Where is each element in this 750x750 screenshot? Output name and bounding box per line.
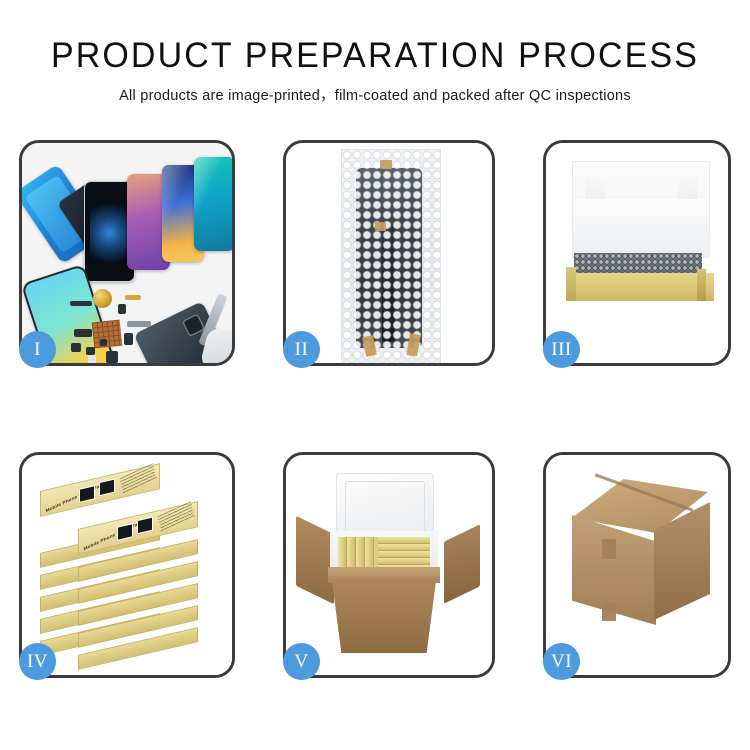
box-screen-thumb-1a <box>79 485 95 503</box>
process-steps-grid: I II <box>0 140 750 678</box>
part-small-2 <box>74 329 92 337</box>
part-small-5 <box>124 333 133 345</box>
box-label-text-2: Mobile Phone Spare Parts <box>83 519 144 551</box>
step-image-4: Mobile Phone Spare Parts Mobile Phone Sp… <box>22 455 232 675</box>
yellow-box-right-edge <box>697 269 706 301</box>
part-small-6 <box>106 351 118 363</box>
carton-tape-upper <box>602 539 616 559</box>
step-image-3 <box>546 143 728 363</box>
part-small-7 <box>100 339 107 346</box>
step-panel-1: I <box>19 140 235 366</box>
yellow-box-body <box>566 273 714 301</box>
process-row-bottom: Mobile Phone Spare Parts Mobile Phone Sp… <box>0 452 750 678</box>
part-small-1 <box>118 304 126 314</box>
chip-grid-component <box>92 320 123 349</box>
step-badge-3: III <box>543 331 580 368</box>
part-gold-flex <box>125 295 141 300</box>
carton-tape-lower <box>602 603 616 621</box>
foam-insert <box>574 199 706 257</box>
carton-flap-left <box>296 516 334 605</box>
inner-box-h2 <box>378 544 430 551</box>
bubble-texture <box>342 150 440 363</box>
step-panel-6: VI <box>543 452 731 678</box>
box-screen-thumb-2a <box>117 523 133 541</box>
step-panel-5: V <box>283 452 495 678</box>
box-top-front: Mobile Phone Spare Parts <box>40 463 160 517</box>
box-spec-lines-1 <box>120 463 157 493</box>
inner-box-h4 <box>378 558 430 565</box>
bubble-wrap-bag <box>341 149 441 363</box>
process-row-top: I II <box>0 140 750 366</box>
step-panel-4: Mobile Phone Spare Parts Mobile Phone Sp… <box>19 452 235 678</box>
part-small-4 <box>86 347 95 355</box>
box-screen-thumb-1b <box>99 479 115 497</box>
yellow-box-left-edge <box>566 267 576 301</box>
product-preparation-infographic: PRODUCT PREPARATION PROCESS All products… <box>0 0 750 750</box>
step-badge-5: V <box>283 643 320 680</box>
carton-top-rim <box>328 567 440 583</box>
tape-middle <box>375 222 386 231</box>
step-image-6 <box>546 455 728 675</box>
step-image-5 <box>286 455 492 675</box>
part-strip-1 <box>70 301 92 306</box>
carton-body <box>332 581 436 653</box>
page-header: PRODUCT PREPARATION PROCESS All products… <box>0 0 750 105</box>
step-panel-3: III <box>543 140 731 366</box>
step-badge-2: II <box>283 331 320 368</box>
step-badge-1: I <box>19 331 56 368</box>
inner-box-h3 <box>378 551 430 558</box>
coil-component <box>93 289 112 308</box>
step-panel-2: II <box>283 140 495 366</box>
step-image-2 <box>286 143 492 363</box>
step-badge-4: IV <box>19 643 56 680</box>
carton-flap-right <box>444 524 480 604</box>
box-screen-thumb-2b <box>137 517 153 535</box>
part-small-3 <box>71 343 81 352</box>
phone-teal <box>194 157 232 251</box>
step-image-1 <box>22 143 232 363</box>
box-label-text-1: Mobile Phone Spare Parts <box>45 481 106 513</box>
part-flex-cable <box>127 321 151 327</box>
page-title: PRODUCT PREPARATION PROCESS <box>11 38 739 75</box>
box-spec-lines-2 <box>158 501 195 531</box>
page-subtitle: All products are image-printed，film-coat… <box>0 84 750 105</box>
inner-box-h1 <box>378 537 430 544</box>
step-badge-6: VI <box>543 643 580 680</box>
box-stack: Mobile Phone Spare Parts Mobile Phone Sp… <box>34 477 202 663</box>
part-sim-tray <box>88 355 96 363</box>
tape-top <box>380 160 392 169</box>
